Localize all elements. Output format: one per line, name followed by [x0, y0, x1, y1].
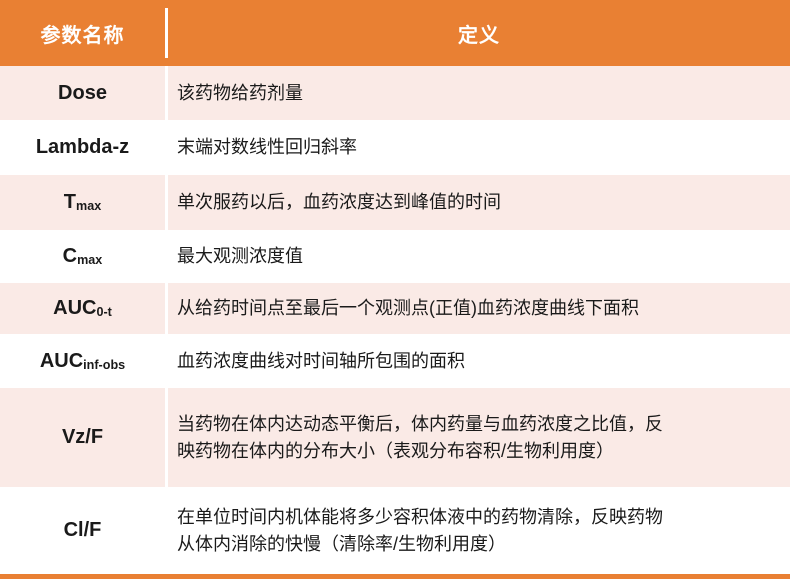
table-row: AUCinf-obs血药浓度曲线对时间轴所包围的面积 — [0, 334, 790, 388]
definition-text: 单次服药以后，血药浓度达到峰值的时间 — [177, 189, 501, 215]
parameter-name-text: Vz/F — [62, 426, 103, 449]
definition-line: 当药物在体内达动态平衡后，体内药量与血药浓度之比值，反 — [177, 411, 663, 437]
definition-line: 血药浓度曲线对时间轴所包围的面积 — [177, 348, 465, 374]
definition-line: 从给药时间点至最后一个观测点(正值)血药浓度曲线下面积 — [177, 295, 639, 321]
definition-cell: 在单位时间内机体能将多少容积体液中的药物清除，反映药物从体内消除的快慢（清除率/… — [168, 487, 790, 574]
parameter-name-subscript: max — [77, 253, 102, 267]
definition-text: 该药物给药剂量 — [177, 80, 303, 106]
parameter-name-text: Dose — [58, 82, 107, 105]
parameter-name-text: AUC — [40, 350, 83, 373]
definition-line: 最大观测浓度值 — [177, 243, 303, 269]
parameter-name-cell: Cmax — [0, 230, 165, 283]
definition-text: 血药浓度曲线对时间轴所包围的面积 — [177, 348, 465, 374]
table-header-row: 参数名称 定义 — [0, 0, 790, 66]
parameter-name-subscript: inf-obs — [83, 358, 125, 372]
parameter-definition-table: 参数名称 定义 Dose该药物给药剂量Lambda-z末端对数线性回归斜率Tma… — [0, 0, 790, 579]
parameter-name-cell: Tmax — [0, 175, 165, 230]
definition-cell: 该药物给药剂量 — [168, 66, 790, 120]
definition-line: 该药物给药剂量 — [177, 80, 303, 106]
table-row: Tmax单次服药以后，血药浓度达到峰值的时间 — [0, 175, 790, 230]
table-row: Cl/F在单位时间内机体能将多少容积体液中的药物清除，反映药物从体内消除的快慢（… — [0, 487, 790, 574]
table-row: Dose该药物给药剂量 — [0, 66, 790, 120]
definition-text: 最大观测浓度值 — [177, 243, 303, 269]
parameter-name-cell: Dose — [0, 66, 165, 120]
table-row: Vz/F当药物在体内达动态平衡后，体内药量与血药浓度之比值，反映药物在体内的分布… — [0, 388, 790, 487]
table-row: Lambda-z末端对数线性回归斜率 — [0, 120, 790, 175]
parameter-name-cell: Lambda-z — [0, 120, 165, 175]
definition-text: 当药物在体内达动态平衡后，体内药量与血药浓度之比值，反映药物在体内的分布大小（表… — [177, 411, 663, 463]
parameter-name-cell: AUC0-t — [0, 283, 165, 334]
definition-cell: 单次服药以后，血药浓度达到峰值的时间 — [168, 175, 790, 230]
definition-cell: 最大观测浓度值 — [168, 230, 790, 283]
column-header-parameter-name: 参数名称 — [0, 0, 165, 66]
definition-text: 末端对数线性回归斜率 — [177, 134, 357, 160]
parameter-name-text: C — [63, 245, 77, 268]
parameter-name-subscript: max — [76, 199, 101, 213]
definition-cell: 血药浓度曲线对时间轴所包围的面积 — [168, 334, 790, 388]
definition-text: 从给药时间点至最后一个观测点(正值)血药浓度曲线下面积 — [177, 295, 639, 321]
parameter-name-text: Cl/F — [64, 519, 102, 542]
definition-line: 单次服药以后，血药浓度达到峰值的时间 — [177, 189, 501, 215]
definition-line: 末端对数线性回归斜率 — [177, 134, 357, 160]
definition-cell: 从给药时间点至最后一个观测点(正值)血药浓度曲线下面积 — [168, 283, 790, 334]
parameter-name-text: Lambda-z — [36, 136, 129, 159]
definition-line: 从体内消除的快慢（清除率/生物利用度） — [177, 531, 663, 557]
definition-line: 映药物在体内的分布大小（表观分布容积/生物利用度） — [177, 438, 663, 464]
parameter-name-cell: Vz/F — [0, 388, 165, 487]
parameter-name-cell: Cl/F — [0, 487, 165, 574]
table-row: Cmax最大观测浓度值 — [0, 230, 790, 283]
column-header-definition: 定义 — [168, 0, 790, 66]
definition-cell: 当药物在体内达动态平衡后，体内药量与血药浓度之比值，反映药物在体内的分布大小（表… — [168, 388, 790, 487]
parameter-name-cell: AUCinf-obs — [0, 334, 165, 388]
definition-cell: 末端对数线性回归斜率 — [168, 120, 790, 175]
definition-text: 在单位时间内机体能将多少容积体液中的药物清除，反映药物从体内消除的快慢（清除率/… — [177, 504, 663, 556]
table-row: AUC0-t从给药时间点至最后一个观测点(正值)血药浓度曲线下面积 — [0, 283, 790, 334]
table-body: Dose该药物给药剂量Lambda-z末端对数线性回归斜率Tmax单次服药以后，… — [0, 66, 790, 574]
parameter-name-subscript: 0-t — [96, 305, 111, 319]
parameter-name-text: T — [64, 191, 76, 214]
parameter-name-text: AUC — [53, 297, 96, 320]
table-bottom-border — [0, 574, 790, 579]
definition-line: 在单位时间内机体能将多少容积体液中的药物清除，反映药物 — [177, 504, 663, 530]
